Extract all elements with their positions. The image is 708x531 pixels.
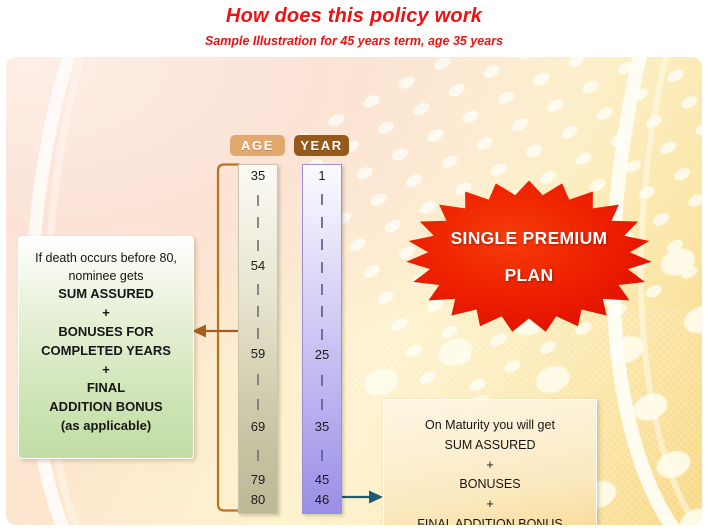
- death-benefit-line-9: (as applicable): [19, 417, 193, 436]
- year-tick: [321, 375, 323, 386]
- death-benefit-box: If death occurs before 80,nominee getsSU…: [18, 236, 194, 459]
- year-tick: [321, 399, 323, 410]
- year-tick: [321, 329, 323, 340]
- death-benefit-line-7: FINAL: [19, 379, 193, 398]
- year-tick: [321, 217, 323, 228]
- age-tick: [257, 374, 259, 385]
- age-tick: [257, 284, 259, 295]
- year-tick: [321, 306, 323, 317]
- age-tick: [257, 217, 259, 228]
- year-column: 125354546: [302, 164, 342, 514]
- maturity-benefit-line-0: On Maturity you will get: [384, 416, 596, 436]
- illustration-root: How does this policy work Sample Illustr…: [0, 0, 708, 531]
- year-tick: [321, 450, 323, 461]
- year-tick: [321, 262, 323, 273]
- death-benefit-line-1: nominee gets: [19, 267, 193, 285]
- age-tick: [257, 328, 259, 339]
- age-tick: [257, 450, 259, 461]
- year-value-45: 45: [303, 472, 341, 487]
- maturity-benefit-line-2: +: [384, 456, 596, 476]
- age-tick: [257, 306, 259, 317]
- death-benefit-line-3: +: [19, 304, 193, 323]
- maturity-benefit-line-4: +: [384, 495, 596, 515]
- year-value-46: 46: [303, 492, 341, 507]
- age-value-59: 59: [239, 346, 277, 361]
- age-value-69: 69: [239, 419, 277, 434]
- maturity-benefit-box: On Maturity you will getSUM ASSURED+BONU…: [383, 399, 597, 525]
- page-header: How does this policy work Sample Illustr…: [0, 0, 708, 56]
- year-tick: [321, 284, 323, 295]
- age-value-54: 54: [239, 258, 277, 273]
- death-benefit-line-0: If death occurs before 80,: [19, 249, 193, 267]
- page-title: How does this policy work: [0, 5, 708, 28]
- age-tick: [257, 399, 259, 410]
- year-value-35: 35: [303, 419, 341, 434]
- year-column-badge: YEAR: [294, 135, 349, 156]
- page-subtitle: Sample Illustration for 45 years term, a…: [0, 34, 708, 48]
- death-benefit-line-5: COMPLETED YEARS: [19, 342, 193, 361]
- age-value-35: 35: [239, 168, 277, 183]
- age-value-80: 80: [239, 492, 277, 507]
- maturity-benefit-line-1: SUM ASSURED: [384, 436, 596, 456]
- year-tick: [321, 194, 323, 205]
- death-benefit-arrow: [190, 321, 242, 341]
- maturity-benefit-line-3: BONUSES: [384, 475, 596, 495]
- age-column: 355459697980: [238, 164, 278, 514]
- death-benefit-line-6: +: [19, 361, 193, 380]
- year-tick: [321, 239, 323, 250]
- single-premium-plan-starburst: [404, 179, 654, 334]
- year-value-1: 1: [303, 168, 341, 183]
- age-column-badge: AGE: [230, 135, 285, 156]
- age-tick: [257, 195, 259, 206]
- illustration-canvas: AGE YEAR 355459697980 125354546 If death…: [6, 57, 702, 525]
- age-value-79: 79: [239, 472, 277, 487]
- maturity-benefit-line-5: FINAL ADDITION BONUS: [384, 515, 596, 525]
- age-tick: [257, 240, 259, 251]
- maturity-benefit-arrow: [340, 487, 384, 507]
- death-benefit-line-4: BONUSES FOR: [19, 323, 193, 342]
- death-benefit-line-2: SUM ASSURED: [19, 285, 193, 304]
- death-benefit-line-8: ADDITION BONUS: [19, 398, 193, 417]
- year-value-25: 25: [303, 347, 341, 362]
